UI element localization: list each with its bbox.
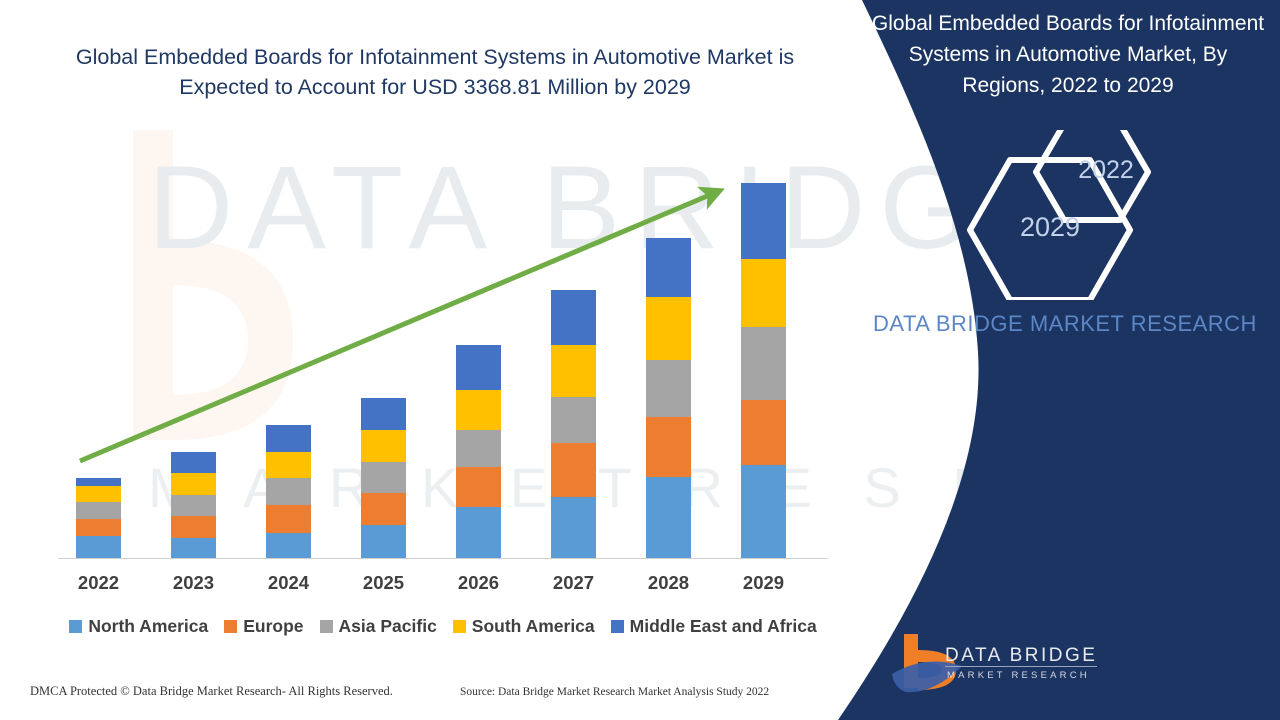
bar-segment-north-america-2029[interactable] xyxy=(741,465,786,558)
bar-2027[interactable] xyxy=(551,290,596,558)
bar-segment-middle-east-and-africa-2028[interactable] xyxy=(646,238,691,297)
x-axis-labels: 20222023202420252026202720282029 xyxy=(0,572,860,600)
legend-item-south-america[interactable]: South America xyxy=(453,616,595,637)
bar-segment-north-america-2023[interactable] xyxy=(171,538,216,558)
x-axis-label-2024: 2024 xyxy=(259,572,319,594)
bar-segment-asia-pacific-2027[interactable] xyxy=(551,397,596,443)
legend-label: North America xyxy=(88,616,208,637)
bar-segment-europe-2022[interactable] xyxy=(76,519,121,536)
chart-legend: North AmericaEuropeAsia PacificSouth Ame… xyxy=(58,616,828,637)
bar-segment-middle-east-and-africa-2022[interactable] xyxy=(76,478,121,486)
bar-segment-europe-2024[interactable] xyxy=(266,505,311,533)
bar-segment-asia-pacific-2023[interactable] xyxy=(171,495,216,516)
panel-content: Global Embedded Boards for Infotainment … xyxy=(850,0,1280,720)
bar-segment-south-america-2027[interactable] xyxy=(551,345,596,397)
bar-segment-south-america-2024[interactable] xyxy=(266,452,311,478)
bar-2029[interactable] xyxy=(741,183,786,558)
legend-swatch-icon xyxy=(320,620,333,633)
bar-segment-middle-east-and-africa-2024[interactable] xyxy=(266,425,311,452)
chart-title: Global Embedded Boards for Infotainment … xyxy=(40,42,830,102)
bar-segment-asia-pacific-2029[interactable] xyxy=(741,327,786,400)
bar-segment-south-america-2022[interactable] xyxy=(76,486,121,502)
legend-item-europe[interactable]: Europe xyxy=(224,616,303,637)
legend-item-middle-east-and-africa[interactable]: Middle East and Africa xyxy=(611,616,817,637)
bar-segment-middle-east-and-africa-2029[interactable] xyxy=(741,183,786,259)
panel-brand-text: DATA BRIDGE MARKET RESEARCH xyxy=(865,308,1265,340)
bar-segment-europe-2025[interactable] xyxy=(361,493,406,525)
bar-2026[interactable] xyxy=(456,345,501,558)
logo-divider xyxy=(945,666,1097,667)
bar-segment-north-america-2025[interactable] xyxy=(361,525,406,558)
bar-2028[interactable] xyxy=(646,238,691,558)
legend-item-north-america[interactable]: North America xyxy=(69,616,208,637)
logo-subtitle: MARKET RESEARCH xyxy=(947,670,1090,681)
bar-segment-middle-east-and-africa-2025[interactable] xyxy=(361,398,406,430)
legend-label: Europe xyxy=(243,616,303,637)
x-axis-label-2026: 2026 xyxy=(449,572,509,594)
bar-segment-asia-pacific-2024[interactable] xyxy=(266,478,311,505)
x-axis-line xyxy=(58,558,828,559)
bar-segment-europe-2027[interactable] xyxy=(551,443,596,497)
footer-copyright: DMCA Protected © Data Bridge Market Rese… xyxy=(30,684,393,699)
bar-segment-south-america-2029[interactable] xyxy=(741,259,786,327)
legend-label: South America xyxy=(472,616,595,637)
bar-segment-asia-pacific-2026[interactable] xyxy=(456,430,501,467)
hexagon-label-2029: 2029 xyxy=(1000,212,1100,243)
bar-2024[interactable] xyxy=(266,425,311,558)
bar-segment-europe-2029[interactable] xyxy=(741,400,786,465)
x-axis-label-2028: 2028 xyxy=(639,572,699,594)
bar-segment-north-america-2026[interactable] xyxy=(456,507,501,558)
legend-swatch-icon xyxy=(69,620,82,633)
x-axis-label-2027: 2027 xyxy=(544,572,604,594)
hexagon-badges: 2029 2022 xyxy=(850,130,1280,295)
x-axis-label-2025: 2025 xyxy=(354,572,414,594)
bar-segment-europe-2028[interactable] xyxy=(646,417,691,477)
bar-segment-north-america-2024[interactable] xyxy=(266,533,311,558)
bar-segment-europe-2026[interactable] xyxy=(456,467,501,507)
bar-segment-north-america-2028[interactable] xyxy=(646,477,691,558)
bar-segment-asia-pacific-2022[interactable] xyxy=(76,502,121,519)
x-axis-label-2029: 2029 xyxy=(734,572,794,594)
bar-segment-asia-pacific-2025[interactable] xyxy=(361,462,406,493)
legend-swatch-icon xyxy=(611,620,624,633)
infographic-root: DATA BRIDGE M A R K E T R E S E A R C H … xyxy=(0,0,1280,720)
bar-2022[interactable] xyxy=(76,478,121,558)
x-axis-label-2023: 2023 xyxy=(164,572,224,594)
bar-segment-south-america-2026[interactable] xyxy=(456,390,501,430)
bar-2023[interactable] xyxy=(171,452,216,558)
bar-segment-europe-2023[interactable] xyxy=(171,516,216,538)
logo-name: DATA BRIDGE xyxy=(945,645,1097,667)
footer-source: Source: Data Bridge Market Research Mark… xyxy=(460,686,769,698)
x-axis-label-2022: 2022 xyxy=(69,572,129,594)
legend-swatch-icon xyxy=(453,620,466,633)
bar-segment-middle-east-and-africa-2023[interactable] xyxy=(171,452,216,473)
bar-2025[interactable] xyxy=(361,398,406,558)
panel-title: Global Embedded Boards for Infotainment … xyxy=(868,8,1268,101)
legend-label: Middle East and Africa xyxy=(630,616,817,637)
bar-segment-north-america-2022[interactable] xyxy=(76,536,121,558)
legend-item-asia-pacific[interactable]: Asia Pacific xyxy=(320,616,437,637)
legend-swatch-icon xyxy=(224,620,237,633)
bar-segment-middle-east-and-africa-2026[interactable] xyxy=(456,345,501,390)
bar-segment-south-america-2025[interactable] xyxy=(361,430,406,462)
bar-segment-middle-east-and-africa-2027[interactable] xyxy=(551,290,596,345)
bar-segment-south-america-2028[interactable] xyxy=(646,297,691,360)
bar-segment-south-america-2023[interactable] xyxy=(171,473,216,495)
bar-segment-asia-pacific-2028[interactable] xyxy=(646,360,691,417)
bar-segment-north-america-2027[interactable] xyxy=(551,497,596,558)
legend-label: Asia Pacific xyxy=(339,616,437,637)
hexagon-label-2022: 2022 xyxy=(1056,156,1156,185)
